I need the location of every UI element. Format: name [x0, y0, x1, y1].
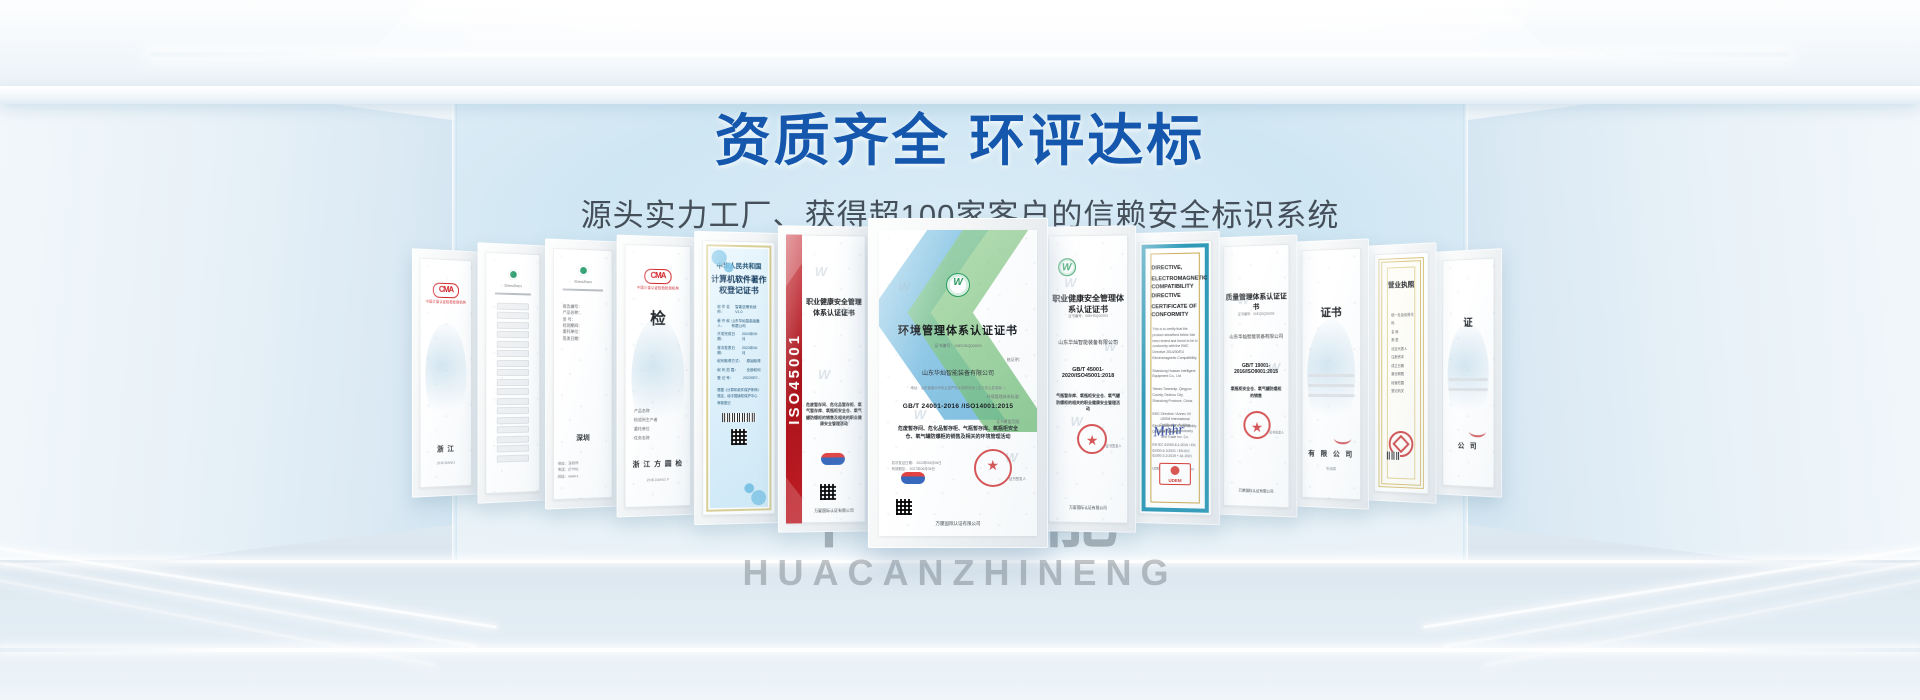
certificate-scope: 氧瓶柜安全仓、氧气罐防爆柜的销售	[1230, 386, 1283, 399]
ce-signer: UDEM International Certification Auditin…	[1156, 417, 1194, 440]
red-official-seal	[1077, 424, 1107, 454]
iso-spine: ISO45001	[786, 234, 802, 523]
field-value: 山东华灿智能装备有限公司	[731, 318, 760, 328]
red-signature-mark	[1469, 425, 1486, 437]
certificate-frame[interactable]: CMA 中国计量认证检验检测机构 检 产品名称 检验所生产者 委托单位 任务名称…	[617, 235, 699, 518]
iso-spine-label: ISO45001	[786, 333, 803, 425]
certificate-standard: GB/T 19001-2016/ISO9001:2015	[1223, 363, 1289, 375]
certificate-scope: 危废暂存间、危化品暂存柜、氧气暂存库、氧瓶柜安全仓、氧气罐防爆柜的销售及相关的职…	[805, 402, 862, 428]
license-field: 类 型	[1391, 336, 1415, 345]
spec-row	[497, 436, 528, 444]
spec-row	[497, 302, 528, 310]
cma-badge: CMA	[644, 269, 671, 285]
certificate-company: 山东华灿智能装备有限公司	[879, 368, 1037, 377]
field-label: 登 记 号：	[717, 376, 733, 381]
license-field: 注册资本	[1391, 353, 1415, 362]
ornament-icon	[738, 477, 767, 508]
certificate-company: 山东华灿智能装备有限公司	[1048, 339, 1128, 346]
w-watermark-icon: W	[1070, 413, 1082, 428]
w-watermark-icon: W	[815, 264, 827, 279]
report-fields: 报告编号： 产品名称： 型 号： 检测期间： 委托单位： 签发日期：	[563, 303, 603, 342]
certificate-org: 浙 江 方 圆 检	[625, 458, 691, 471]
certificate-number-value: 00EQSQ00093	[1253, 311, 1274, 315]
ceiling-light-strip	[150, 52, 1790, 57]
environment-certificate: W W W W 环境管理体系认证证书 证书编号：00EOSQ00093 兹证明：…	[879, 230, 1037, 536]
cnas-logo-icon	[901, 472, 925, 484]
field-value: 2023SR7...	[743, 376, 761, 381]
field-label: 首次发表日期：	[717, 345, 742, 355]
certificate-org: 浙 江	[420, 443, 472, 456]
spec-row	[497, 426, 528, 434]
spec-row	[497, 322, 528, 330]
certificate-org: 有 限 公 司	[1301, 448, 1361, 460]
expiry-value: 2027年06月05日	[910, 467, 935, 471]
certificate-frame[interactable]: ShenZhen	[478, 242, 548, 504]
field-value: 2023年06月	[742, 346, 761, 356]
certificate-scope: 气瓶暂存库、氧瓶柜安全仓、氧气罐防爆柜的相关的职业健康安全管理活动	[1055, 393, 1122, 412]
certificate-standard: GB/T 45001-2020/ISO45001:2018	[1048, 367, 1128, 379]
qr-code	[896, 499, 912, 515]
signer-label: 证书签发人	[1106, 443, 1122, 448]
paper-watermark	[1223, 244, 1289, 508]
certificate-frame[interactable]: 中华人民共和国 计算机软件著作权登记证书 软 件 名 称：智能告警系统 V1.0…	[694, 231, 783, 525]
certificate-footer: 万厦国际认证有限公司	[879, 521, 1037, 527]
license-field: 法定代表人	[1391, 345, 1415, 354]
expiry-label: 有效期至：	[892, 467, 909, 471]
page-title: 资质齐全 环评达标	[0, 96, 1920, 177]
license-field: 名 称	[1391, 328, 1415, 337]
certificate-title: 证书	[1301, 303, 1361, 320]
certificate-footer: 万厦国际认证有限公司	[805, 508, 862, 515]
qr-code	[820, 484, 836, 500]
signer-label: 证书签发人	[1009, 476, 1026, 481]
certificate-number-label: 证书编号：	[1068, 314, 1085, 318]
red-signature-mark	[1334, 432, 1351, 444]
spec-row	[497, 388, 528, 395]
qr-code	[731, 429, 747, 445]
ornament-icon	[710, 248, 740, 279]
cnas-logo-icon	[821, 453, 845, 465]
certificate-number-label: 证书编号：	[934, 343, 954, 348]
certificate-gallery: CMA 中国计量认证检验检测机构 浙 江 ZHEJIANG ShenZhen	[0, 236, 1920, 566]
udem-mark-icon	[1159, 462, 1191, 485]
standard-label: 环境管理体系标准：	[987, 394, 1023, 400]
certificate-number-value: 00EOSQ00093	[954, 343, 981, 348]
software-copyright-certificate: 中华人民共和国 计算机软件著作权登记证书 软 件 名 称：智能告警系统 V1.0…	[706, 244, 771, 512]
certificate-number-value: 00EHSQ00093	[1085, 314, 1108, 318]
barcode	[1387, 451, 1400, 459]
certificate-title: 职业健康安全管理体系认证证书	[805, 298, 862, 319]
certificate-frame[interactable]: ShenZhen 报告编号： 产品名称： 型 号： 检测期间： 委托单位： 签发…	[545, 238, 620, 509]
business-license: 营业执照 统一社会信用代码 名 称 类 型 法定代表人 注册资本 成立日期 营业…	[1379, 257, 1424, 489]
field-label: 权利取得方式：	[717, 359, 742, 364]
certificate-company: 山东华灿智能装备有限公司	[1223, 334, 1289, 341]
paper-text-lines	[1448, 378, 1488, 398]
issue-date-value: 2024年06月06日	[916, 461, 941, 465]
field-value: 全部权利	[747, 368, 761, 373]
paper-text-lines	[1309, 374, 1354, 404]
certificate-frame[interactable]: W W W W ISO45001 职业健康安全管理体系认证证书 危废暂存间、危化…	[778, 225, 874, 532]
certificate-header: ShenZhen	[559, 278, 607, 286]
certificate-number: 证书编号：00EOSQ00093	[879, 343, 1037, 349]
issue-date-label: 初次发证日期：	[892, 461, 916, 465]
certificate-org-sub: ZHEJIANG F	[625, 476, 691, 484]
certificate-frame[interactable]: W W W 职业健康安全管理体系认证证书 证书编号：00EHSQ00093 山东…	[1040, 225, 1136, 532]
red-official-seal	[974, 449, 1012, 487]
license-field: 经营范围	[1391, 379, 1415, 388]
report-field: 签发日期：	[563, 336, 603, 343]
copyright-fields: 软 件 名 称：智能告警系统 V1.0 著 作 权 人：山东华灿智能装备有限公司…	[717, 305, 760, 381]
ce-conformity-certificate: DIRECTIVE, ELECTROMAGNETIC COMPATIBILITY…	[1142, 243, 1209, 513]
cma-badge: CMA	[433, 282, 459, 298]
field-label: 开发完成日期：	[717, 332, 742, 342]
certificate-standard: GB/T 24001-2016 /ISO14001:2015	[879, 403, 1037, 410]
certificate-org-sub: ZHEJIANG	[420, 459, 472, 467]
certificate-title: 职业健康安全管理体系认证证书	[1051, 292, 1124, 315]
license-field: 成立日期	[1391, 362, 1415, 371]
spec-row	[497, 331, 528, 338]
paper-arc-graphic	[425, 322, 467, 428]
spec-row	[497, 417, 528, 425]
certification-body-logo-icon	[1058, 258, 1076, 276]
divider	[563, 289, 603, 292]
certificate-org: 公 司	[1442, 440, 1494, 452]
certificate-org: 深圳	[553, 432, 613, 444]
floor-highlight-line	[0, 648, 1920, 652]
spec-row	[497, 341, 528, 348]
ceiling-light-strip	[470, 24, 1481, 31]
spec-row	[497, 369, 528, 376]
w-watermark-icon: W	[1064, 275, 1076, 290]
field-value: 智能告警系统 V1.0	[735, 305, 760, 315]
field-label: 著 作 权 人：	[717, 318, 731, 328]
license-field: 统一社会信用代码	[1391, 310, 1415, 328]
spec-row	[497, 454, 528, 462]
field-value: 2023年05月	[742, 332, 761, 342]
certificate-frame[interactable]: 证 公 司	[1435, 248, 1502, 498]
certificate-header: ShenZhen	[491, 282, 534, 290]
scope-label: 证书覆盖范围：	[996, 420, 1023, 425]
spec-row	[497, 360, 528, 367]
certificate-frame[interactable]: CMA 中国计量认证检验检测机构 浙 江 ZHEJIANG	[412, 248, 479, 498]
certificate-frame-hero[interactable]: W W W W 环境管理体系认证证书 证书编号：00EOSQ00093 兹证明：…	[868, 218, 1048, 548]
field-label: 权 利 范 围：	[717, 367, 738, 372]
certificate-frame[interactable]: 证书 有 限 公 司 专用章	[1294, 238, 1369, 509]
red-official-seal	[1243, 411, 1270, 439]
divider	[495, 293, 532, 296]
spec-row	[497, 312, 528, 320]
shenzhen-logo-icon	[508, 269, 518, 280]
spec-row	[497, 350, 528, 357]
company-label: 兹证明：	[1007, 357, 1023, 363]
field-label: 软 件 名 称：	[717, 305, 735, 315]
barcode	[722, 413, 756, 422]
cma-badge-sub: 中国计量认证检验检测机构	[425, 299, 466, 306]
w-watermark-icon: W	[818, 367, 830, 382]
signer-label: 证书签发人	[1269, 430, 1284, 434]
org-web: 网址：www.s	[558, 473, 579, 480]
certificate-field: 任务名称	[634, 433, 686, 443]
license-field: 登记机关	[1391, 387, 1415, 396]
shenzhen-logo-icon	[578, 265, 589, 276]
spec-row	[497, 407, 528, 414]
license-title: 营业执照	[1382, 279, 1420, 290]
certificate-title: 环境管理体系认证证书	[879, 322, 1037, 338]
certificate-address: 地址：山东省德州市庆云县严务乡政府驻地 ( 位于庆云县城南...)	[893, 385, 1023, 390]
certificate-frame[interactable]: 营业执照 统一社会信用代码 名 称 类 型 法定代表人 注册资本 成立日期 营业…	[1366, 242, 1436, 504]
ceiling-light-strip	[419, 8, 1520, 15]
license-field: 营业期限	[1391, 370, 1415, 379]
certificate-number-label: 证书编号：	[1238, 312, 1253, 316]
certification-body-logo-icon	[946, 273, 970, 297]
floor-sheen	[0, 560, 1920, 700]
spec-row	[497, 445, 528, 453]
spec-row	[497, 398, 528, 405]
cma-badge-sub: 中国计量认证检验检测机构	[631, 285, 686, 292]
banner-stage: 资质齐全 环评达标 源头实力工厂、获得超100家客户的信赖安全标识系统 CMA …	[0, 0, 1920, 700]
certificate-footer: 万厦国际认证有限公司	[1048, 506, 1128, 512]
w-watermark-icon: W	[898, 279, 910, 294]
paper-arc-graphic	[1447, 322, 1489, 428]
certificate-frame[interactable]: W W 质量管理体系认证证书 证书编号：00EQSQ00093 山东华灿智能装备…	[1216, 235, 1298, 518]
copyright-note: 规定，经中国版权保护中心审核登记	[717, 393, 760, 406]
field-value: 原始取得	[747, 359, 761, 364]
certificate-title: 证	[1442, 313, 1494, 329]
spec-row	[497, 379, 528, 386]
certificate-frame[interactable]: DIRECTIVE, ELECTROMAGNETIC COMPATIBILITY…	[1131, 231, 1220, 525]
certificate-scope: 危废暂存间、危化品暂存柜、气瓶暂存库、氧瓶柜安全仓、氧气罐防爆柜的销售及相关的环…	[893, 426, 1023, 442]
